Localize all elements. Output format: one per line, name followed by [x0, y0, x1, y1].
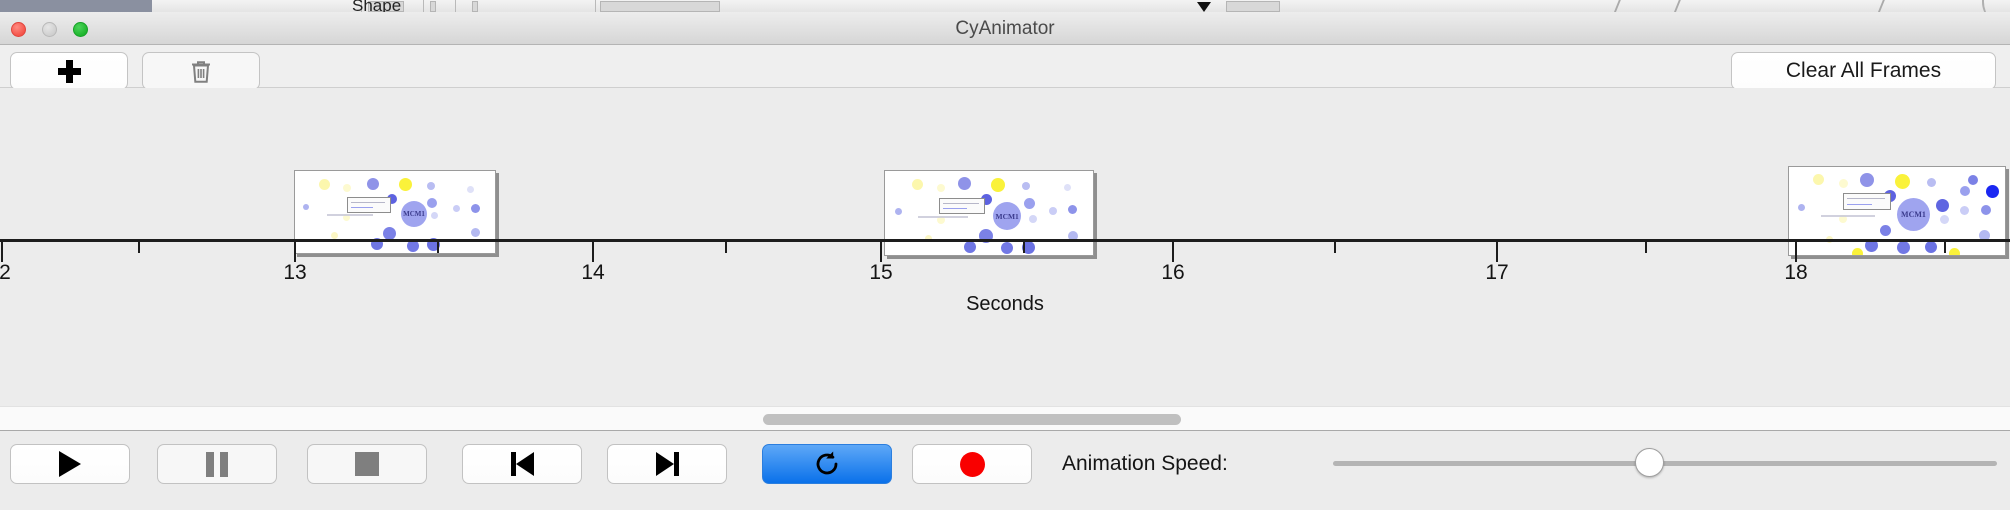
keyframe-thumbnail-3[interactable]: MCM1	[1788, 166, 2006, 256]
titlebar: CyAnimator	[0, 12, 2010, 45]
axis-title: Seconds	[0, 293, 2010, 316]
axis-tick-label: 16	[1161, 261, 1184, 285]
axis-tick-label: 17	[1485, 261, 1508, 285]
maximize-button[interactable]	[73, 22, 88, 37]
axis-tick-label: 15	[869, 261, 892, 285]
animation-speed-label: Animation Speed:	[1062, 444, 1228, 484]
animation-speed-slider[interactable]	[1333, 459, 1997, 468]
background-selected-chip	[0, 0, 152, 12]
clear-all-frames-button[interactable]: Clear All Frames	[1731, 52, 1996, 90]
stop-button[interactable]	[307, 444, 427, 484]
background-sort-arrow-icon	[1197, 2, 1211, 12]
pause-icon	[206, 452, 228, 477]
skip-next-icon	[656, 452, 679, 476]
record-button[interactable]	[912, 444, 1032, 484]
skip-next-button[interactable]	[607, 444, 727, 484]
minimize-button[interactable]	[42, 22, 57, 37]
slider-thumb[interactable]	[1635, 448, 1664, 477]
axis-tick-label: 13	[283, 261, 306, 285]
timeline-axis	[0, 239, 2010, 242]
timeline-scroll-thumb[interactable]	[763, 414, 1181, 425]
pause-button[interactable]	[157, 444, 277, 484]
clear-all-frames-label: Clear All Frames	[1786, 59, 1941, 83]
trash-icon	[190, 59, 212, 84]
loop-icon	[813, 450, 841, 478]
axis-tick-label: 2	[0, 261, 11, 285]
add-frame-button[interactable]	[10, 52, 128, 90]
axis-tick-label: 14	[581, 261, 604, 285]
timeline-scrollbar[interactable]	[0, 406, 2010, 430]
stop-icon	[355, 452, 379, 476]
slider-track[interactable]	[1333, 461, 1997, 466]
axis-tick-label: 18	[1784, 261, 1807, 285]
close-button[interactable]	[11, 22, 26, 37]
toolbar: Clear All Frames	[0, 45, 2010, 88]
window-title: CyAnimator	[0, 12, 2010, 45]
timeline-panel[interactable]: MCM1	[0, 88, 2010, 406]
record-icon	[960, 452, 985, 477]
play-icon	[59, 451, 81, 477]
plus-icon	[58, 60, 81, 83]
skip-previous-icon	[511, 452, 534, 476]
delete-frame-button[interactable]	[142, 52, 260, 90]
loop-button[interactable]	[762, 444, 892, 484]
playback-toolbar: Animation Speed:	[0, 430, 2010, 510]
play-button[interactable]	[10, 444, 130, 484]
cyanimator-window: Shape CyAnimator Clear All Frames	[0, 0, 2010, 510]
skip-previous-button[interactable]	[462, 444, 582, 484]
keyframe-thumbnail-2[interactable]: MCM1	[884, 170, 1094, 256]
